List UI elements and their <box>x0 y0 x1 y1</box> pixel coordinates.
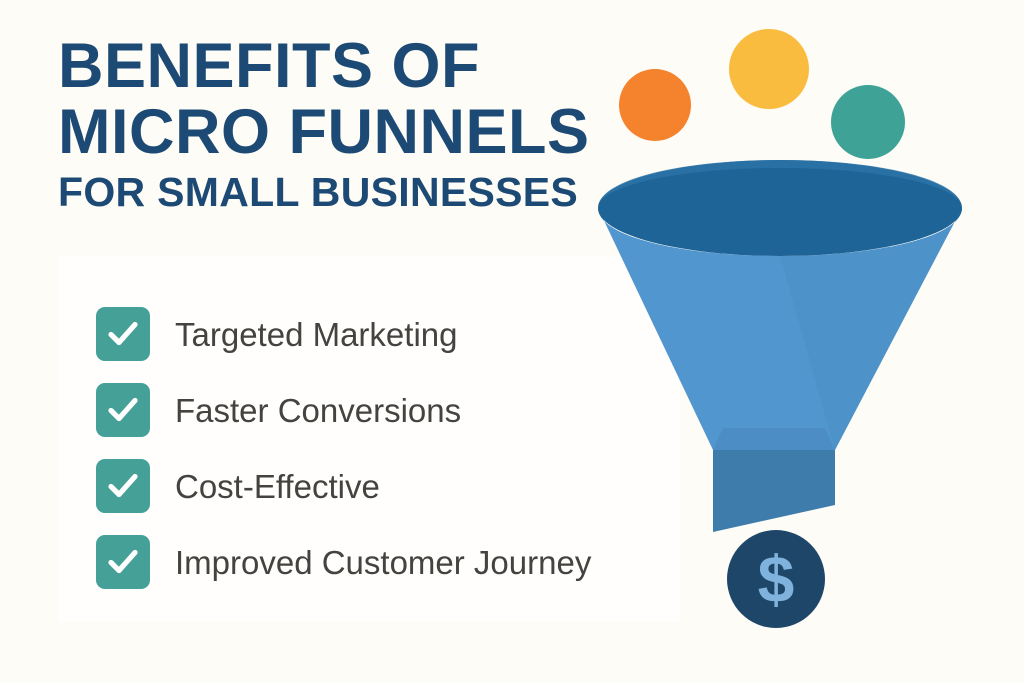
check-icon <box>106 545 140 579</box>
checkbox-checked[interactable] <box>96 383 150 437</box>
list-item-label: Improved Customer Journey <box>175 546 591 579</box>
list-item-label: Targeted Marketing <box>175 318 457 351</box>
yellow-circle-icon <box>729 29 809 109</box>
benefits-checklist: Targeted Marketing Faster Conversions Co… <box>96 306 696 590</box>
list-item[interactable]: Improved Customer Journey <box>96 534 696 590</box>
check-icon <box>106 469 140 503</box>
check-icon <box>106 393 140 427</box>
check-icon <box>106 317 140 351</box>
list-item[interactable]: Faster Conversions <box>96 382 696 438</box>
orange-circle-icon <box>619 69 691 141</box>
list-item-label: Faster Conversions <box>175 394 461 427</box>
infographic-canvas: BENEFITS OF MICRO FUNNELS FOR SMALL BUSI… <box>0 0 1024 683</box>
page-title-line-2: MICRO FUNNELS <box>58 102 658 164</box>
teal-circle-icon <box>831 85 905 159</box>
checkbox-checked[interactable] <box>96 535 150 589</box>
list-item[interactable]: Cost-Effective <box>96 458 696 514</box>
checkbox-checked[interactable] <box>96 459 150 513</box>
list-item-label: Cost-Effective <box>175 470 380 503</box>
dollar-coin-icon: $ <box>727 530 825 628</box>
page-subtitle: FOR SMALL BUSINESSES <box>58 172 658 213</box>
page-title-line-1: BENEFITS OF <box>58 36 658 98</box>
list-item[interactable]: Targeted Marketing <box>96 306 696 362</box>
headline-block: BENEFITS OF MICRO FUNNELS FOR SMALL BUSI… <box>58 36 658 213</box>
checkbox-checked[interactable] <box>96 307 150 361</box>
dollar-sign-icon: $ <box>758 546 795 612</box>
